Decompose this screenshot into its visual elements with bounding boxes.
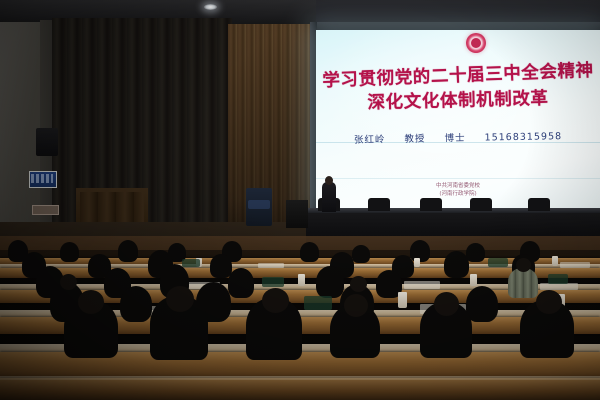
audience-person: [316, 266, 344, 298]
party-emblem-logo-icon: [466, 33, 486, 53]
presenter-head: [325, 176, 333, 185]
audience-person-head: [536, 290, 562, 314]
audience-person: [352, 245, 370, 263]
screen-band-lower: [316, 178, 600, 179]
audience-person-head: [166, 286, 194, 312]
lectern: [286, 200, 308, 228]
chair-back: [420, 198, 442, 211]
slide-footer-line2: (河南行政学院): [316, 190, 600, 198]
wall-speaker-icon: [36, 128, 58, 156]
bag: [262, 277, 284, 287]
audience-person-head: [78, 290, 104, 314]
paper-cup: [552, 256, 558, 266]
audience-person: [300, 242, 319, 262]
desk-row-foreground: [0, 378, 600, 400]
bag: [488, 258, 508, 267]
speaker-name: 张红岭: [354, 134, 386, 146]
paper-cup: [470, 274, 477, 286]
audience-person: [466, 286, 498, 322]
audience-person-head: [60, 274, 77, 290]
audience-person: [120, 286, 152, 322]
audience-person: [60, 242, 79, 262]
speaker-rank: 教授: [404, 134, 425, 145]
audience-person-head: [434, 292, 459, 316]
desk-edge-highlight: [0, 376, 600, 380]
audience-person: [410, 240, 430, 262]
lecture-hall-photo: 学习贯彻党的二十届三中全会精神 深化文化体制机制改革 张红岭 教授 博士 151…: [0, 0, 600, 400]
paper-sheet: [258, 263, 284, 268]
chair-back: [528, 198, 550, 211]
audience-person-head: [344, 294, 368, 317]
paper-sheet: [540, 283, 578, 290]
audience-person: [210, 254, 232, 278]
paper-sheet: [404, 281, 440, 289]
audience-person: [466, 243, 485, 262]
presenter-body: [322, 182, 336, 212]
slide-footer-line1: 中共河南省委党校: [316, 182, 600, 190]
wall-plate: [32, 205, 59, 215]
wall-sign-text: [31, 174, 53, 183]
bag: [304, 296, 332, 310]
projection-screen: 学习贯彻党的二十届三中全会精神 深化文化体制机制改革 张红岭 教授 博士 151…: [316, 30, 600, 210]
paper-cup: [414, 258, 420, 267]
speaker-degree: 博士: [444, 133, 465, 144]
head-table-top: [306, 208, 600, 213]
paper-cup: [398, 292, 407, 308]
audience-person: [228, 268, 254, 298]
waste-bin-band: [248, 200, 270, 209]
slide-footer: 中共河南省委党校 (河南行政学院): [316, 182, 600, 199]
chair-back: [470, 198, 492, 211]
audience-person-plaid-shirt: [508, 268, 538, 298]
party-emblem-logo-inner: [471, 38, 481, 48]
audience-person-head: [350, 276, 367, 292]
speaker-phone: 15168315958: [485, 131, 563, 143]
bag: [548, 274, 568, 284]
audience-person-head: [516, 258, 531, 272]
ceiling-light-icon: [204, 4, 217, 10]
audience-person: [118, 240, 138, 262]
audience-person: [444, 251, 469, 278]
chair-back: [368, 198, 390, 211]
paper-sheet: [560, 262, 590, 268]
audience-person-head: [262, 288, 289, 313]
bag: [182, 259, 200, 267]
paper-cup: [298, 274, 305, 286]
